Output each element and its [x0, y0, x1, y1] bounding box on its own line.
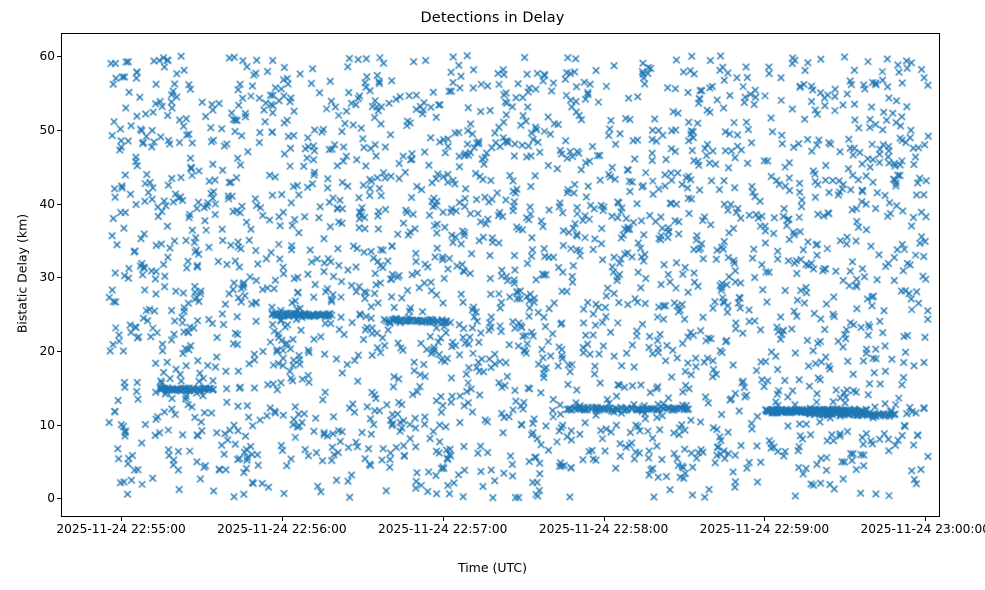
- x-axis-label: Time (UTC): [0, 560, 985, 575]
- y-tick-mark: [57, 498, 61, 499]
- y-tick-label: 30: [39, 270, 55, 284]
- y-tick-mark: [57, 425, 61, 426]
- y-tick-label: 60: [39, 49, 55, 63]
- y-tick-mark: [57, 130, 61, 131]
- plot-axes-area: [61, 33, 940, 517]
- y-axis-label: Bistatic Delay (km): [15, 164, 30, 384]
- x-tick-label: 2025-11-24 22:55:00: [56, 522, 185, 536]
- y-tick-label: 50: [39, 123, 55, 137]
- figure-canvas: Detections in Delay 2025-11-24 22:55:002…: [0, 0, 985, 590]
- x-tick-label: 2025-11-24 22:59:00: [700, 522, 829, 536]
- scatter-points-layer: [62, 34, 940, 517]
- x-tick-mark: [604, 517, 605, 521]
- y-tick-mark: [57, 204, 61, 205]
- y-tick-label: 0: [47, 491, 55, 505]
- y-tick-mark: [57, 277, 61, 278]
- y-tick-label: 40: [39, 197, 55, 211]
- x-tick-mark: [121, 517, 122, 521]
- x-tick-label: 2025-11-24 22:57:00: [378, 522, 507, 536]
- x-tick-label: 2025-11-24 23:00:00: [861, 522, 985, 536]
- y-tick-mark: [57, 351, 61, 352]
- y-tick-label: 10: [39, 418, 55, 432]
- y-tick-label: 20: [39, 344, 55, 358]
- x-tick-mark: [443, 517, 444, 521]
- y-tick-mark: [57, 56, 61, 57]
- x-tick-mark: [925, 517, 926, 521]
- chart-title: Detections in Delay: [0, 10, 985, 26]
- x-tick-mark: [764, 517, 765, 521]
- x-tick-label: 2025-11-24 22:56:00: [217, 522, 346, 536]
- x-tick-mark: [282, 517, 283, 521]
- x-tick-label: 2025-11-24 22:58:00: [539, 522, 668, 536]
